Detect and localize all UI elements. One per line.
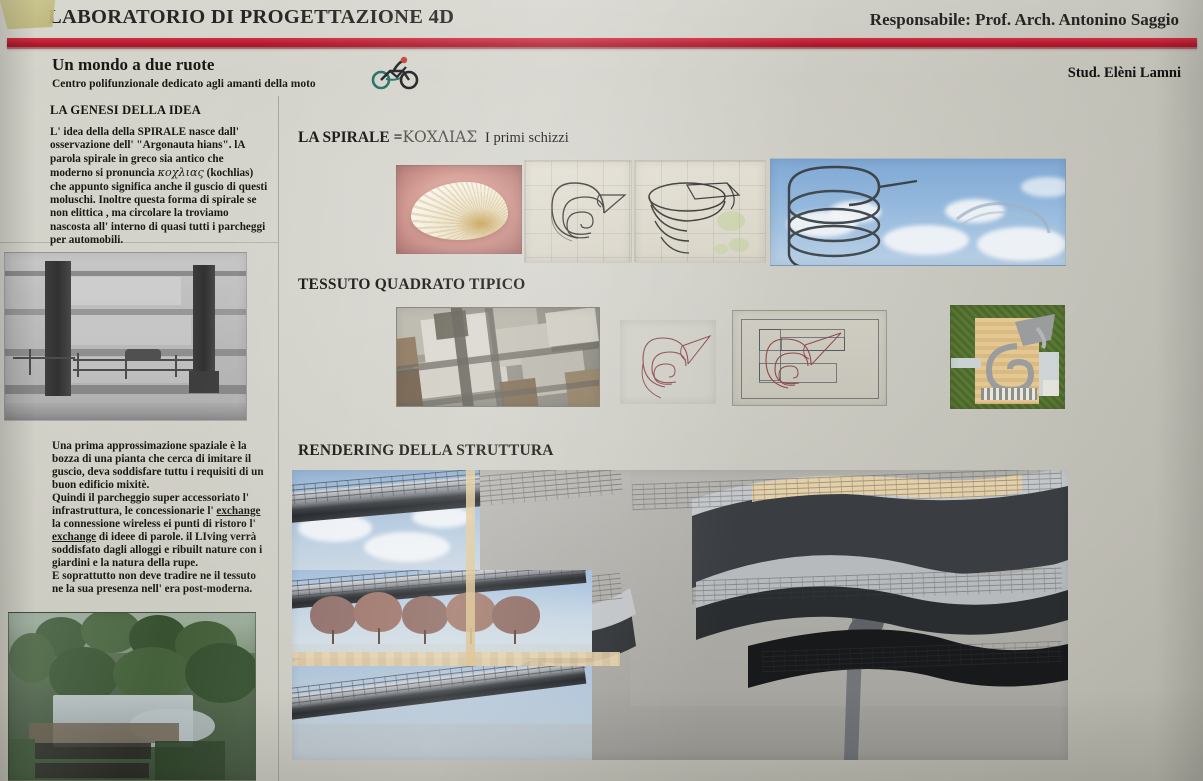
left-paragraph-1: L' idea della della SPIRALE nasce dall' … [50,126,268,248]
project-subtitle: Centro polifunzionale dedicato agli aman… [52,78,316,90]
site-photomontage [8,612,256,781]
header-accent-bar-shadow [7,44,1197,49]
spiral-plan-sketch-red [620,320,716,404]
left-paragraph-2c: E soprattutto non deve tradire ne il tes… [52,570,256,595]
spiral-sketch-plan [524,160,632,263]
left-paragraph-2: Una prima approssimazione spaziale è la … [52,440,266,596]
rendering-group-backdrop [292,470,1068,760]
physical-model-photo [950,305,1065,409]
project-title: Un mondo a due ruote [52,55,214,75]
motorcycle-icon [370,52,420,92]
poster-sheet: LABORATORIO DI PROGETTAZIONE 4D Responsa… [0,0,1203,781]
responsabile-label: Responsabile: Prof. Arch. Antonino Saggi… [870,10,1179,30]
spiral-3d-render-sky [770,158,1066,266]
left-paragraph-1-greek: κοχλιας [158,166,204,179]
left-paragraph-2b-u1: exchange [216,505,260,517]
left-paragraph-2b-mid: la connessione wireless ei punti di rist… [52,518,256,530]
aerial-urban-fabric-photo [396,307,600,407]
left-section-heading: LA GENESI DELLA IDEA [50,103,201,118]
spiral-plan-over-grid [732,310,887,406]
page-title: LABORATORIO DI PROGETTAZIONE 4D [48,6,454,29]
section-heading-spirale-bold: LA SPIRALE = [298,129,402,146]
spiral-sketch-axonometric [634,160,766,263]
parking-interior-photo [4,252,247,421]
left-paragraph-2a: Una prima approssimazione spaziale è la … [52,440,264,491]
left-paragraph-2b-u2: exchange [52,531,96,543]
section-heading-spirale: LA SPIRALE =ΚΟΧΛΙΑΣ I primi schizzi [298,128,569,147]
section-heading-tessuto-bold: TESSUTO QUADRATO TIPICO [298,276,525,293]
shell-photo-argonauta-hians [396,165,522,254]
section-heading-tessuto: TESSUTO QUADRATO TIPICO [298,276,525,294]
column-divider [278,96,279,781]
student-label: Stud. Elèni Lamni [1068,65,1181,82]
section-heading-spirale-greek: ΚΟΧΛΙΑΣ [402,128,477,146]
section-heading-spirale-tail: I primi schizzi [485,130,569,146]
section-heading-rendering: RENDERING DELLA STRUTTURA [298,442,554,460]
section-heading-rendering-bold: RENDERING DELLA STRUTTURA [298,442,554,459]
